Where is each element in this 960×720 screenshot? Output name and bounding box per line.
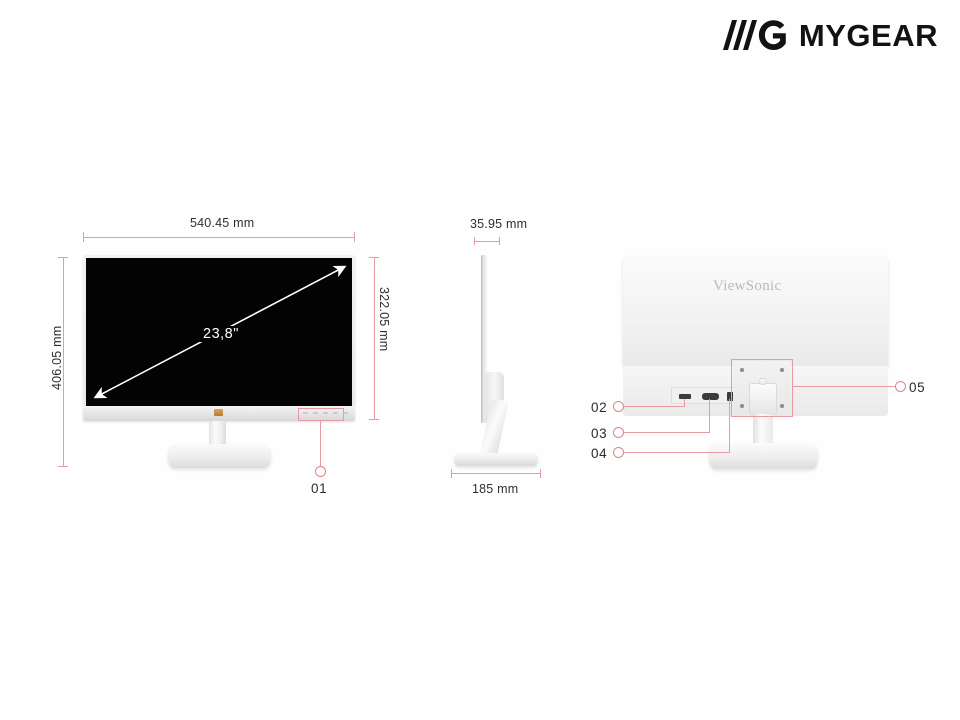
callout-04-label: 04 bbox=[591, 446, 607, 461]
callout-05-leader bbox=[793, 386, 897, 387]
front-total-height-label: 406.05 mm bbox=[50, 326, 64, 390]
mygear-bars-g-logo-icon bbox=[723, 18, 789, 52]
front-width-dimension-line bbox=[83, 237, 355, 238]
side-depth-label: 35.95 mm bbox=[470, 217, 527, 231]
front-height-tick-top bbox=[58, 257, 68, 258]
front-panel-tick-top bbox=[369, 257, 379, 258]
callout-03-leader-h bbox=[624, 432, 710, 433]
brand-logo: MYGEAR bbox=[723, 18, 938, 52]
front-panel-height-dimension-line bbox=[374, 257, 375, 420]
callout-05-highlight bbox=[731, 359, 793, 417]
callout-03-label: 03 bbox=[591, 426, 607, 441]
callout-01-label: 01 bbox=[311, 481, 327, 496]
callout-02-label: 02 bbox=[591, 400, 607, 415]
callout-05-marker[interactable] bbox=[895, 381, 906, 392]
callout-01-marker[interactable] bbox=[315, 466, 326, 477]
spec-sheet-page: MYGEAR 540.45 mm 406.05 mm 322.05 mm bbox=[0, 0, 960, 720]
rear-shell-upper bbox=[623, 257, 888, 369]
callout-01-leader bbox=[320, 421, 321, 466]
rear-stand-base bbox=[709, 443, 818, 469]
side-stand-base bbox=[454, 453, 538, 466]
vga-port[interactable] bbox=[702, 393, 719, 400]
callout-02-marker[interactable] bbox=[613, 401, 624, 412]
side-base-tick-left bbox=[451, 469, 452, 478]
callout-03-leader-v bbox=[709, 399, 710, 433]
front-stand-base bbox=[168, 444, 271, 468]
brand-name: MYGEAR bbox=[799, 20, 938, 51]
front-width-tick-left bbox=[83, 232, 84, 242]
front-panel-height-label: 322.05 mm bbox=[377, 287, 391, 351]
side-depth-dimension-line bbox=[474, 241, 500, 242]
callout-02-leader-h bbox=[624, 406, 685, 407]
rear-brand-text: ViewSonic bbox=[713, 278, 781, 295]
side-depth-tick-right bbox=[499, 237, 500, 245]
front-height-tick-bottom bbox=[58, 466, 68, 467]
side-depth-tick-left bbox=[474, 237, 475, 245]
side-base-depth-dimension-line bbox=[451, 473, 541, 474]
callout-03-marker[interactable] bbox=[613, 427, 624, 438]
front-width-label: 540.45 mm bbox=[190, 216, 254, 230]
side-base-tick-right bbox=[540, 469, 541, 478]
callout-01-highlight bbox=[298, 408, 344, 421]
front-bezel-brand-mark-icon bbox=[214, 409, 223, 416]
callout-05-label: 05 bbox=[909, 380, 925, 395]
callout-04-marker[interactable] bbox=[613, 447, 624, 458]
side-base-depth-label: 185 mm bbox=[472, 482, 518, 496]
front-panel-tick-bottom bbox=[369, 419, 379, 420]
callout-04-leader-h bbox=[624, 452, 730, 453]
front-width-tick-right bbox=[354, 232, 355, 242]
callout-02-leader-v bbox=[684, 399, 685, 407]
screen-diagonal-label: 23,8" bbox=[199, 326, 243, 342]
callout-04-leader-v bbox=[729, 399, 730, 453]
